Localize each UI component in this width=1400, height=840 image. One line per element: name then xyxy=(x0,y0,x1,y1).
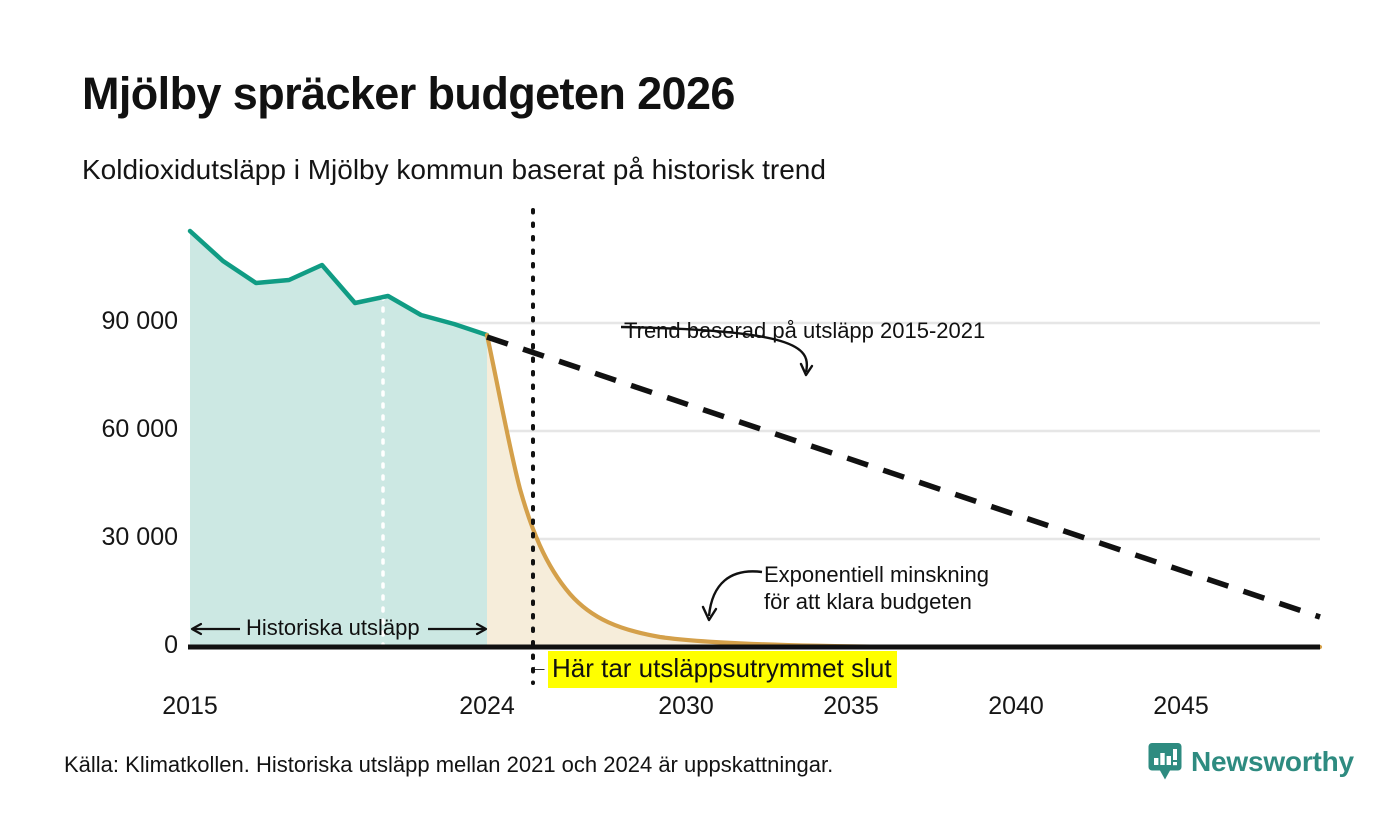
chart-svg xyxy=(0,0,1400,740)
exponential-annotation-line1: Exponentiell minskning xyxy=(764,562,989,589)
logo-text: Newsworthy xyxy=(1191,746,1354,778)
chart-page: Mjölby spräcker budgeten 2026 Koldioxidu… xyxy=(0,0,1400,840)
y-tick-90000: 90 000 xyxy=(102,307,178,336)
budget-end-label: Här tar utsläppsutrymmet slut xyxy=(548,651,897,688)
x-axis-labels: 2015 2024 2030 2035 2040 2045 xyxy=(0,692,1400,732)
chart-plot: 90 000 60 000 30 000 0 2015 2024 2030 20… xyxy=(0,0,1400,740)
budget-end-arrow-icon: ← xyxy=(527,653,549,679)
trend-annotation-label: Trend baserad på utsläpp 2015-2021 xyxy=(624,318,985,345)
x-tick-2045: 2045 xyxy=(1153,692,1209,721)
bar-chart-speech-bubble-icon xyxy=(1148,742,1182,782)
exponential-annotation-line2: för att klara budgeten xyxy=(764,589,989,616)
exponential-annotation-arrow xyxy=(703,571,762,620)
exponential-annotation-label: Exponentiell minskning för att klara bud… xyxy=(764,562,989,616)
y-tick-30000: 30 000 xyxy=(102,523,178,552)
x-tick-2035: 2035 xyxy=(823,692,879,721)
source-note: Källa: Klimatkollen. Historiska utsläpp … xyxy=(64,752,833,778)
x-tick-2015: 2015 xyxy=(162,692,218,721)
x-tick-2030: 2030 xyxy=(658,692,714,721)
x-tick-2024: 2024 xyxy=(459,692,515,721)
y-tick-0: 0 xyxy=(164,631,178,660)
historical-area-fill xyxy=(190,231,487,647)
newsworthy-logo: Newsworthy xyxy=(1148,742,1354,782)
historical-span-label: Historiska utsläpp xyxy=(246,615,420,642)
y-axis-labels: 90 000 60 000 30 000 0 xyxy=(0,0,178,700)
y-tick-60000: 60 000 xyxy=(102,415,178,444)
x-tick-2040: 2040 xyxy=(988,692,1044,721)
